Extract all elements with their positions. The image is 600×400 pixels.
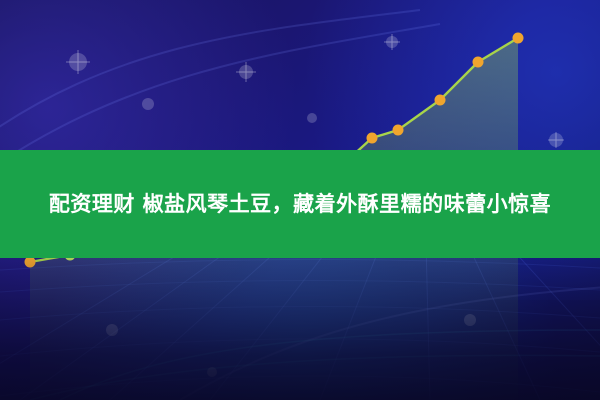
- sparkle-dot: [142, 98, 154, 110]
- bottom-vignette: [0, 250, 600, 400]
- page-title: 配资理财 椒盐风琴土豆，藏着外酥里糯的味蕾小惊喜: [49, 187, 551, 221]
- title-banner: 配资理财 椒盐风琴土豆，藏着外酥里糯的味蕾小惊喜: [0, 150, 600, 258]
- sparkle-dot: [307, 113, 317, 123]
- cover-image: 配资理财 椒盐风琴土豆，藏着外酥里糯的味蕾小惊喜: [0, 0, 600, 400]
